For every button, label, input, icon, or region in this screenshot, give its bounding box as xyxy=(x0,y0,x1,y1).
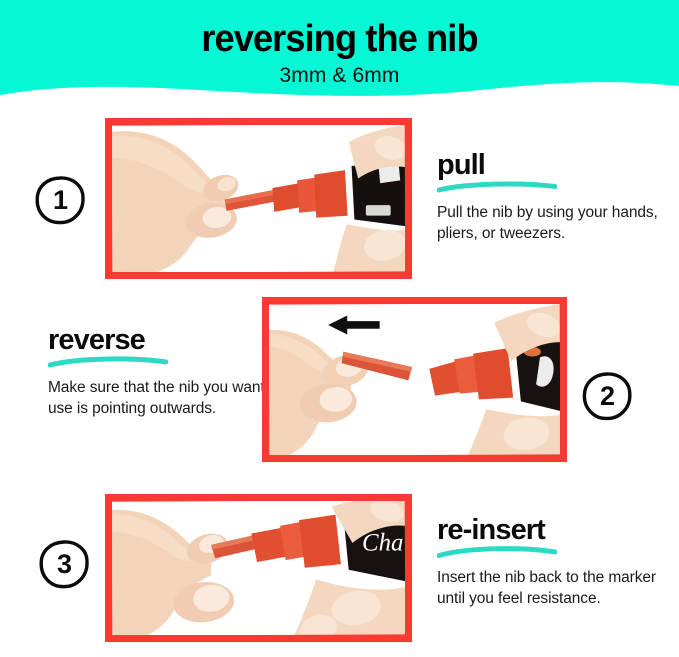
step-2-heading-underline xyxy=(48,356,168,368)
header-banner: reversing the nib 3mm & 6mm xyxy=(0,0,679,108)
step-3-photo: Cha xyxy=(105,494,412,642)
step-1-heading: pull xyxy=(437,150,557,182)
step-number-3-badge: 3 xyxy=(38,538,90,590)
step-3-heading-wrap: re-insert xyxy=(437,515,557,558)
step-2-photo xyxy=(262,297,567,462)
step-number-3-text: 3 xyxy=(38,538,90,590)
step-2-illustration xyxy=(269,304,560,461)
page-title: reversing the nib xyxy=(17,20,662,60)
step-3-body: Insert the nib back to the marker until … xyxy=(437,567,672,610)
step-3-heading-underline xyxy=(437,546,557,558)
step-1-text-block: pull Pull the nib by using your hands, p… xyxy=(437,150,672,245)
step-number-1-badge: 1 xyxy=(34,174,86,226)
step-2-heading-wrap: reverse xyxy=(48,325,168,368)
page-subtitle: 3mm & 6mm xyxy=(0,64,679,88)
step-2-body: Make sure that the nib you want to use i… xyxy=(48,377,283,420)
step-3-illustration: Cha xyxy=(112,501,405,642)
step-number-2-text: 2 xyxy=(581,370,633,422)
marker-brand-label: Cha xyxy=(362,530,403,557)
step-1-illustration xyxy=(112,125,405,279)
step-2-text-block: reverse Make sure that the nib you want … xyxy=(48,325,283,420)
step-number-1-text: 1 xyxy=(34,174,86,226)
step-2-heading: reverse xyxy=(48,325,168,357)
step-1-heading-underline xyxy=(437,181,557,193)
step-number-2-badge: 2 xyxy=(581,370,633,422)
step-1-body: Pull the nib by using your hands, pliers… xyxy=(437,202,672,245)
step-3-heading: re-insert xyxy=(437,515,557,547)
step-1-photo xyxy=(105,118,412,279)
step-3-text-block: re-insert Insert the nib back to the mar… xyxy=(437,515,672,610)
step-1-heading-wrap: pull xyxy=(437,150,557,193)
